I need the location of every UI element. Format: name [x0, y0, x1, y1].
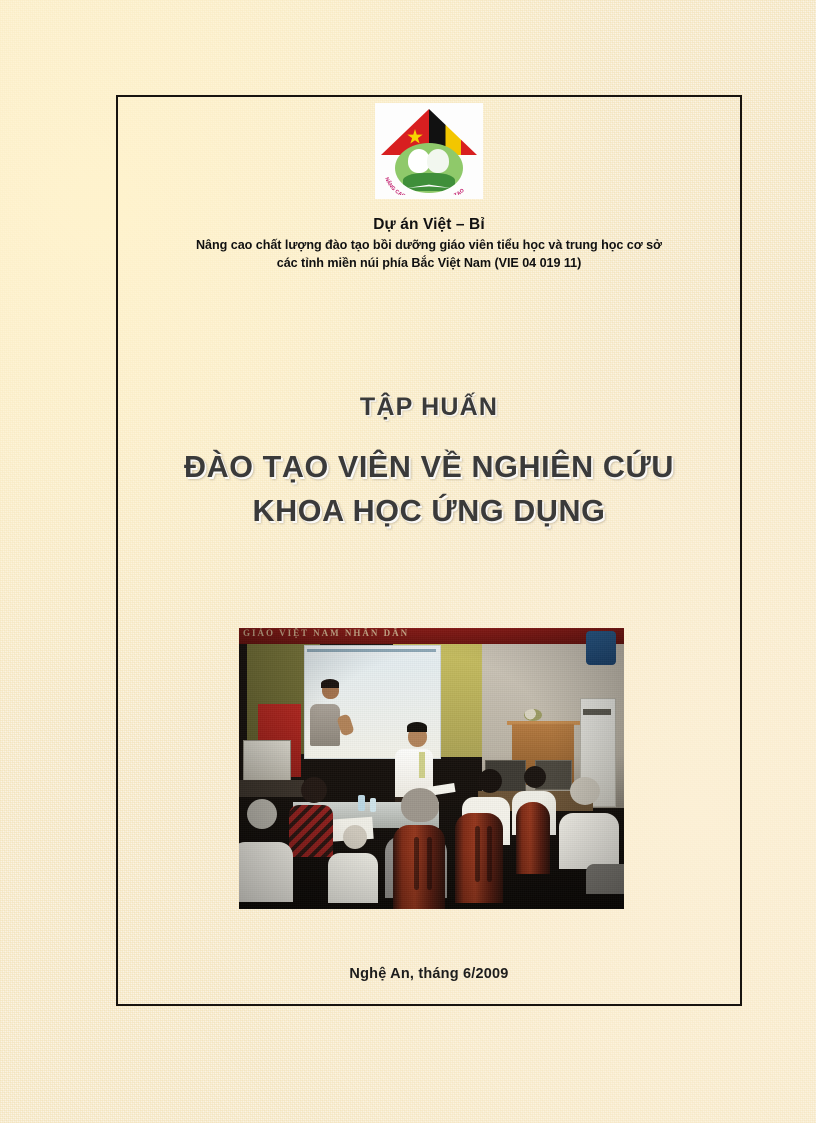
logo-container: NÂNG CAO CHẤT LƯỢNG ĐÀO TẠO — [118, 103, 740, 199]
document-page: NÂNG CAO CHẤT LƯỢNG ĐÀO TẠO Dự án Việt –… — [0, 0, 816, 1123]
place-and-date: Nghệ An, tháng 6/2009 — [118, 966, 740, 982]
svg-text:NÂNG CAO CHẤT LƯỢNG ĐÀO TẠO: NÂNG CAO CHẤT LƯỢNG ĐÀO TẠO — [383, 177, 465, 195]
main-title-line-2: KHOA HỌC ỨNG DỤNG — [118, 489, 740, 533]
title-kicker: TẬP HUẤN — [118, 393, 740, 422]
main-title-line-1: ĐÀO TẠO VIÊN VỀ NGHIÊN CỨU — [118, 445, 740, 489]
cover-photograph: HÀNH GIÁO VIỆT NAM NHÂN DÂN — [239, 628, 624, 909]
logo-arc-text-path: NÂNG CAO CHẤT LƯỢNG ĐÀO TẠO — [383, 177, 465, 195]
project-name: Dự án Việt – Bỉ — [118, 215, 740, 236]
viet-bi-project-logo: NÂNG CAO CHẤT LƯỢNG ĐÀO TẠO — [375, 103, 483, 199]
photo-vignette-overlay — [239, 628, 624, 909]
project-heading-block: Dự án Việt – Bỉ Nâng cao chất lượng đào … — [118, 215, 740, 272]
page-border-frame: NÂNG CAO CHẤT LƯỢNG ĐÀO TẠO Dự án Việt –… — [116, 95, 742, 1006]
project-subtitle-line-1: Nâng cao chất lượng đào tạo bồi dưỡng gi… — [118, 236, 740, 254]
logo-arc-text: NÂNG CAO CHẤT LƯỢNG ĐÀO TẠO — [379, 137, 479, 195]
project-subtitle-line-2: các tỉnh miền núi phía Bắc Việt Nam (VIE… — [118, 254, 740, 272]
main-title-block: TẬP HUẤN ĐÀO TẠO VIÊN VỀ NGHIÊN CỨU KHOA… — [118, 393, 740, 533]
